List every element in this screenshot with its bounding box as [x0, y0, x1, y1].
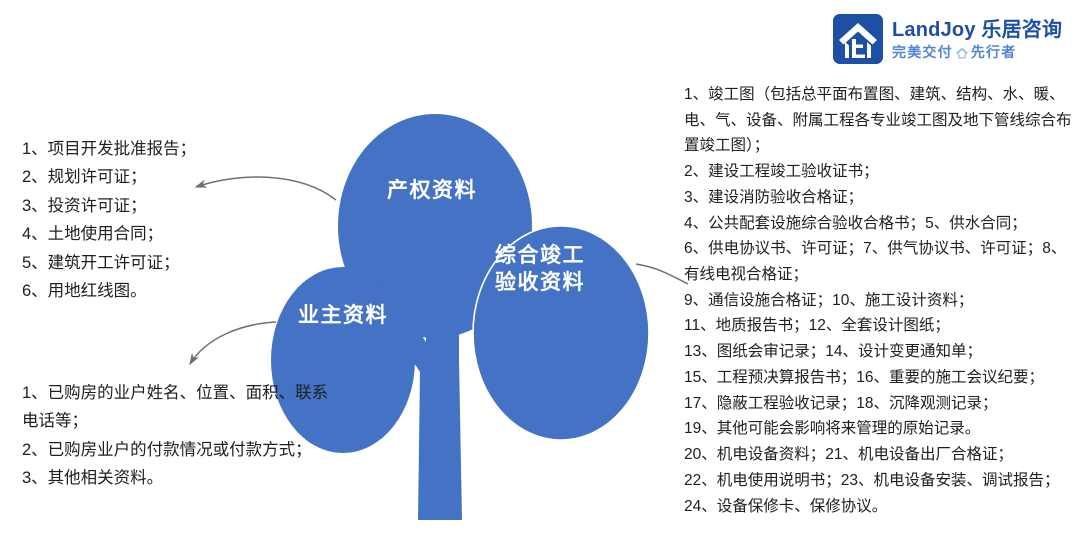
brand-name: LandJoy 乐居咨询	[892, 20, 1062, 40]
list-property-docs: 1、项目开发批准报告； 2、规划许可证； 3、投资许可证； 4、土地使用合同； …	[22, 135, 272, 305]
brand-text: LandJoy 乐居咨询 完美交付 先行者	[892, 20, 1062, 59]
house-glyph-icon	[955, 46, 969, 60]
crown-completion-docs	[473, 226, 649, 440]
list-completion-docs: 1、竣工图（包括总平面布置图、建筑、结构、水、暖、电、气、设备、附属工程各专业竣…	[684, 82, 1074, 519]
house-logo-icon	[833, 14, 883, 64]
brand-logo: LandJoy 乐居咨询 完美交付 先行者	[833, 14, 1062, 64]
brand-slogan-right: 先行者	[971, 45, 1017, 59]
list-owner-docs: 1、已购房的业户姓名、位置、面积、联系电话等； 2、已购房业户的付款情况或付款方…	[22, 379, 340, 493]
brand-slogan-left: 完美交付	[892, 45, 953, 59]
brand-slogan: 完美交付 先行者	[892, 45, 1062, 59]
